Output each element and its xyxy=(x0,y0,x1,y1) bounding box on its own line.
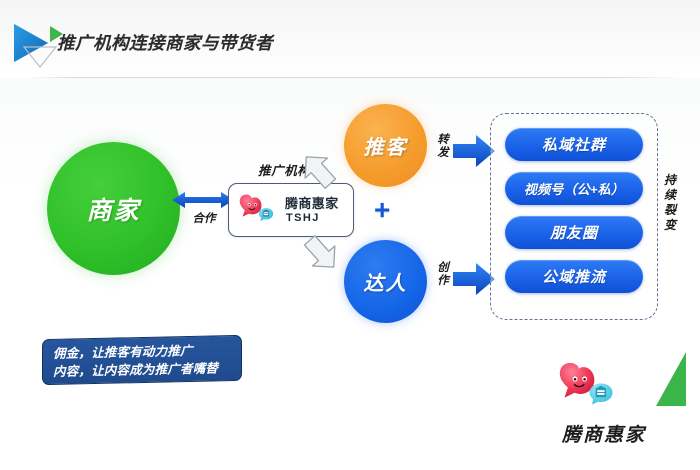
cooperation-label: 合作 xyxy=(178,210,230,226)
page-title: 推广机构连接商家与带货者 xyxy=(57,30,273,55)
node-tuike[interactable]: 推客 xyxy=(344,104,427,187)
slogan-line-2: 内容，让内容成为推广者嘴替 xyxy=(53,359,232,381)
slogan-box: 佣金，让推客有动力推广 内容，让内容成为推广者嘴替 xyxy=(42,335,242,385)
block-arrow-right-icon xyxy=(453,262,495,296)
channel-label: 私域社群 xyxy=(542,134,606,155)
hollow-arrow-down-right-icon xyxy=(298,232,344,274)
channel-label: 朋友圈 xyxy=(550,222,598,243)
flow-create-label: 创作 xyxy=(436,262,450,288)
green-triangle-icon xyxy=(654,352,688,408)
hollow-arrow-up-right-icon xyxy=(296,150,342,192)
node-daren-label: 达人 xyxy=(364,267,408,296)
heart-chat-logo-icon xyxy=(552,358,628,416)
agency-name-label: 腾商惠家 xyxy=(285,193,339,212)
channel-label: 公域推流 xyxy=(542,266,606,287)
channels-group: 私域社群 视频号（公+私） 朋友圈 公域推流 xyxy=(490,113,658,320)
slide-canvas: 推广机构连接商家与带货者 商家 合作 推广机构 xyxy=(0,0,700,470)
node-merchant-label: 商家 xyxy=(86,191,140,227)
node-tuike-label: 推客 xyxy=(364,131,408,160)
channel-pill-public-traffic[interactable]: 公域推流 xyxy=(505,260,643,293)
node-merchant[interactable]: 商家 xyxy=(47,142,180,275)
channel-pill-moments[interactable]: 朋友圈 xyxy=(505,216,643,249)
channel-label: 视频号（公+私） xyxy=(524,179,624,198)
channel-pill-private-community[interactable]: 私域社群 xyxy=(505,128,643,161)
double-headed-arrow-icon xyxy=(172,190,234,210)
plus-icon: + xyxy=(374,196,390,224)
block-arrow-right-icon xyxy=(453,134,495,168)
flow-forward-label: 转发 xyxy=(436,134,450,160)
header-divider xyxy=(26,77,686,78)
channel-pill-video-account[interactable]: 视频号（公+私） xyxy=(505,172,643,205)
node-daren[interactable]: 达人 xyxy=(344,240,427,323)
agency-abbr-label: TSHJ xyxy=(286,212,320,224)
heart-chat-logo-icon xyxy=(235,191,283,229)
brand-name-label: 腾商惠家 xyxy=(549,420,659,447)
fission-label: 持续裂变 xyxy=(662,173,678,233)
slide-header: 推广机构连接商家与带货者 xyxy=(0,0,700,78)
